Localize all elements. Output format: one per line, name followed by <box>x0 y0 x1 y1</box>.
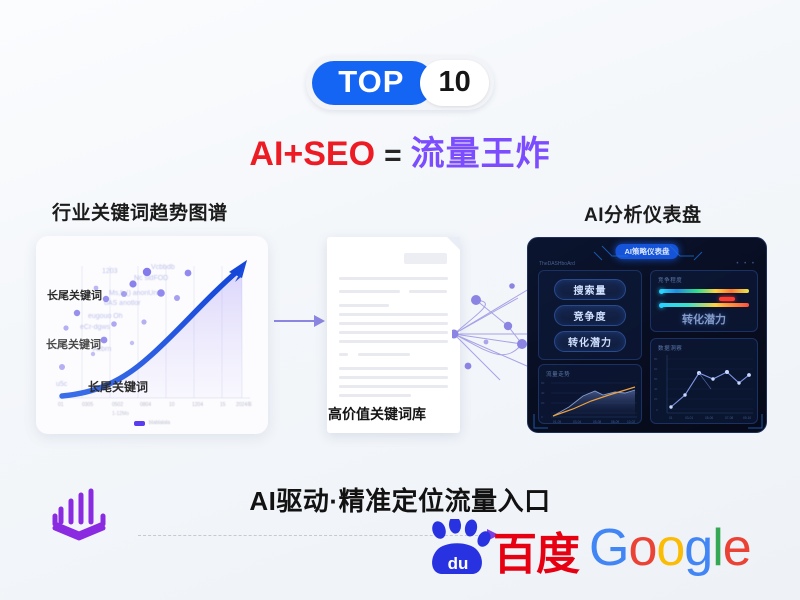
svg-text:01-05: 01-05 <box>553 420 561 424</box>
chart-xtick-4: 10 <box>169 402 175 408</box>
ai-dashboard-panel: AI策略仪表盘 TheDASHboArd • • • 搜索量 竞争度 转化潜力 … <box>527 237 767 433</box>
svg-text:20: 20 <box>654 397 658 401</box>
gauge-bar-mid-marker-icon <box>659 303 664 308</box>
svg-text:60: 60 <box>541 381 545 385</box>
svg-text:05-06: 05-06 <box>705 416 713 420</box>
keyword-network-graph <box>452 280 538 388</box>
dashboard-menu-icon[interactable]: • • • <box>736 261 756 267</box>
metric-button-conversion-potential[interactable]: 转化潜力 <box>554 331 626 352</box>
google-logo: Google <box>589 522 751 574</box>
section-heading-left: 行业关键词趋势图谱 <box>52 198 228 225</box>
chart-xtick-5: 1204 <box>192 402 203 408</box>
svg-text:10-02: 10-02 <box>627 420 635 424</box>
competition-gauge-panel: 竞争程度 转化潜力 <box>650 270 758 332</box>
svg-text:0: 0 <box>656 408 658 412</box>
chart-xtick-0: 01 <box>58 402 64 408</box>
chart-xtick-1: 0305 <box>82 402 93 408</box>
baidu-wordmark: 百度 <box>493 533 579 577</box>
chart-xtick-3: 0804 <box>140 402 151 408</box>
dashboard-subtitle: TheDASHboArd <box>539 261 575 267</box>
chart-keyword-label-3: 长尾关键词 <box>88 378 148 395</box>
title-operator: = <box>384 139 402 172</box>
metric-buttons-panel: 搜索量 竞争度 转化潜力 <box>538 270 642 360</box>
google-letter-o1: o <box>628 522 656 574</box>
legend-label: blablalala <box>149 420 170 426</box>
svg-text:03-04: 03-04 <box>573 420 581 424</box>
chart-keyword-label-2: 长尾关键词 <box>46 336 101 352</box>
svg-text:40: 40 <box>541 391 545 395</box>
svg-text:20: 20 <box>541 401 545 405</box>
dashboard-area-chart: 01-05 03-04 05-08 08-09 10-02 6040 200 <box>539 365 643 425</box>
dashboard-line-chart: 8060 5040 200 0103-01 05-0607-08 09-10 <box>651 339 759 425</box>
svg-text:01: 01 <box>669 416 673 420</box>
svg-text:09-10: 09-10 <box>743 416 751 420</box>
svg-text:40: 40 <box>654 387 658 391</box>
gauge-caption: 转化潜力 <box>651 311 757 327</box>
svg-text:0: 0 <box>541 415 543 419</box>
svg-text:du: du <box>448 554 469 573</box>
doc-fold-corner <box>447 237 460 250</box>
top-badge-label: TOP <box>312 61 434 105</box>
metric-button-search-volume[interactable]: 搜索量 <box>554 279 626 300</box>
chart-keyword-label-1: 长尾关键词 <box>47 287 102 303</box>
gauge-alert-marker <box>719 297 735 301</box>
svg-text:05-08: 05-08 <box>593 420 601 424</box>
google-letter-e: e <box>723 522 751 574</box>
section-heading-right: AI分析仪表盘 <box>584 200 702 227</box>
partner-logos: du 百度 Google <box>425 519 751 577</box>
google-letter-g1: G <box>589 522 628 574</box>
bottom-tagline: AI驱动·精准定位流量入口 <box>0 481 800 518</box>
svg-text:50: 50 <box>654 377 658 381</box>
page-title: AI+SEO=流量王炸 <box>0 126 800 175</box>
google-letter-g2: g <box>684 522 712 574</box>
doc-header-block <box>404 253 447 264</box>
chart-axis-sublabel: 1-12Mo <box>112 411 129 417</box>
gauge-bar-high <box>661 289 749 293</box>
svg-text:03-01: 03-01 <box>685 416 693 420</box>
title-right-text: 流量王炸 <box>411 135 551 173</box>
gauge-bar-high-marker-icon <box>659 289 664 294</box>
google-letter-l: l <box>712 522 723 574</box>
metric-button-competition[interactable]: 竞争度 <box>554 305 626 326</box>
chart-xtick-7: 2024年 <box>236 401 252 408</box>
svg-text:07-08: 07-08 <box>725 416 733 420</box>
svg-text:60: 60 <box>654 367 658 371</box>
dashboard-title-badge: AI策略仪表盘 <box>616 244 679 259</box>
top-badge: TOP 10 <box>306 56 493 110</box>
google-letter-o2: o <box>656 522 684 574</box>
svg-text:80: 80 <box>654 357 658 361</box>
gauge-panel-heading: 竞争程度 <box>658 276 682 284</box>
chart-xtick-2: 0502 <box>112 402 123 408</box>
data-insight-chart-panel: 数据洞察 8060 5040 200 <box>650 338 758 424</box>
chart-xtick-6: 15 <box>220 402 226 408</box>
baidu-paw-icon: du <box>425 519 491 577</box>
trend-area-chart-panel: 流量走势 01-05 03-04 <box>538 364 642 424</box>
gauge-bar-mid <box>661 303 749 307</box>
top-badge-container: TOP 10 <box>0 56 800 110</box>
chart-legend: blablalala <box>36 420 268 426</box>
svg-text:08-09: 08-09 <box>611 420 619 424</box>
title-left-text: AI+SEO <box>249 135 375 173</box>
keyword-trend-chart-card: Vcbbdb Nc sldFOD Ms,b,() anoriUni oAS an… <box>36 236 268 434</box>
baidu-logo: du 百度 <box>425 519 579 577</box>
flow-arrow-icon-1 <box>274 313 326 329</box>
legend-swatch-icon <box>134 421 145 426</box>
top-badge-number: 10 <box>420 60 488 106</box>
doc-caption: 高价值关键词库 <box>328 404 426 424</box>
